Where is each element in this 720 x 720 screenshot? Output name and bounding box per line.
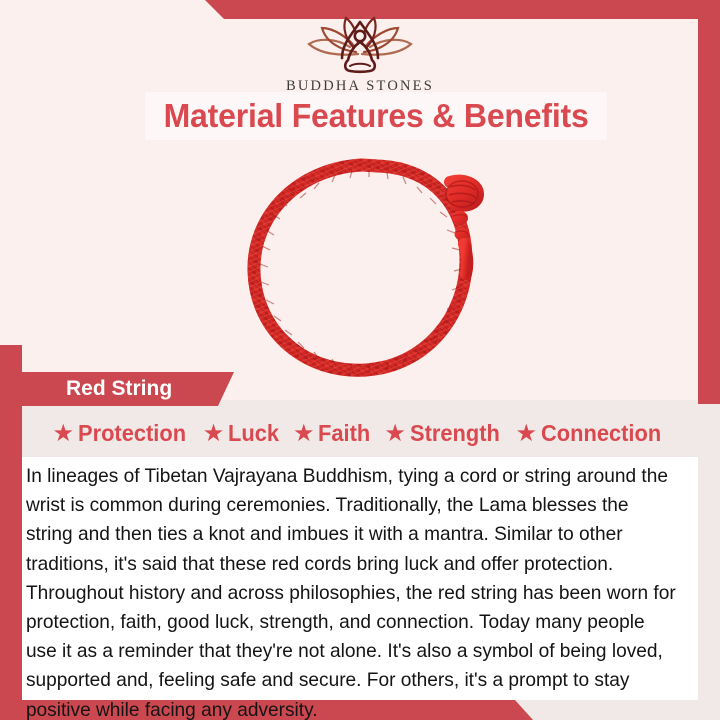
feature-label: Connection — [541, 420, 661, 447]
red-string-bracelet-illustration — [228, 148, 500, 390]
infographic-page: BUDDHA STONES Material Features & Benefi… — [0, 0, 720, 720]
feature-item-strength: ★ Strength — [384, 420, 504, 447]
feature-item-faith: ★ Faith — [293, 420, 373, 447]
feature-item-luck: ★ Luck — [203, 420, 282, 447]
star-icon: ★ — [293, 422, 315, 446]
section-label-banner: Red String — [22, 372, 234, 406]
feature-label: Strength — [410, 420, 500, 447]
brand-logo: BUDDHA STONES — [0, 14, 720, 95]
feature-list: ★ Protection ★ Luck ★ Faith ★ Strength ★… — [22, 420, 698, 447]
lotus-meditation-icon — [296, 14, 424, 76]
feature-item-protection: ★ Protection — [52, 420, 191, 447]
title-banner: Material Features & Benefits — [145, 92, 607, 140]
description-panel: In lineages of Tibetan Vajrayana Buddhis… — [22, 457, 698, 700]
feature-label: Faith — [318, 420, 370, 447]
section-label: Red String — [66, 377, 172, 401]
star-icon: ★ — [203, 422, 225, 446]
star-icon: ★ — [52, 422, 74, 446]
feature-label: Luck — [228, 420, 279, 447]
feature-item-connection: ★ Connection — [515, 420, 667, 447]
description-text: In lineages of Tibetan Vajrayana Buddhis… — [22, 457, 688, 720]
page-title: Material Features & Benefits — [163, 97, 588, 135]
decorative-band-left — [0, 345, 22, 720]
star-icon: ★ — [515, 422, 537, 446]
product-image — [228, 148, 500, 390]
star-icon: ★ — [384, 422, 406, 446]
feature-label: Protection — [78, 420, 186, 447]
